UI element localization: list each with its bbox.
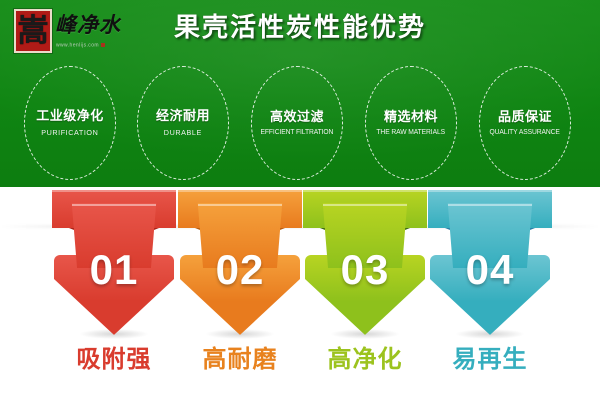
logo-url-dot-icon (101, 43, 105, 47)
arrow-caption: 高耐磨 (168, 348, 312, 372)
arrow-number: 01 (52, 249, 176, 291)
shaft-highlight (448, 204, 532, 206)
feature-ellipse-row: 工业级净化 PURIFICATION 经济耐用 DURABLE 高效过滤 EFF… (0, 66, 600, 182)
banner-highlight (303, 190, 427, 192)
arrow-card-02[interactable]: 02 高耐磨 (178, 187, 302, 402)
feature-ellipse-filtration: 高效过滤 EFFICIENT FILTRATION (251, 66, 343, 180)
arrow-caption: 易再生 (418, 348, 562, 372)
feature-label-cn: 精选材料 (384, 110, 438, 124)
banner-highlight (178, 190, 302, 192)
logo-url-text: www.henlijs.com (56, 42, 99, 48)
feature-label-en: DURABLE (164, 129, 202, 137)
infographic-canvas: 嵩 峰净水 www.henlijs.com 果壳活性炭性能优势 工业级净化 PU… (0, 0, 600, 402)
feature-label-en: THE RAW MATERIALS (377, 129, 446, 137)
arrow-number: 03 (303, 249, 427, 291)
feature-ellipse-durable: 经济耐用 DURABLE (137, 66, 229, 180)
logo-url: www.henlijs.com (56, 43, 105, 48)
shaft-highlight (72, 204, 156, 206)
feature-label-cn: 工业级净化 (36, 109, 104, 123)
header-band: 嵩 峰净水 www.henlijs.com 果壳活性炭性能优势 工业级净化 PU… (0, 0, 600, 187)
banner-highlight (428, 190, 552, 192)
feature-label-en: QUALITY ASSURANCE (490, 129, 560, 137)
feature-ellipse-raw-materials: 精选材料 THE RAW MATERIALS (365, 66, 457, 180)
feature-label-cn: 高效过滤 (270, 110, 324, 124)
page-title: 果壳活性炭性能优势 (0, 14, 600, 40)
arrow-caption: 高净化 (293, 348, 437, 372)
arrow-number: 02 (178, 249, 302, 291)
arrow-number: 04 (428, 249, 552, 291)
feature-ellipse-quality-assurance: 品质保证 QUALITY ASSURANCE (479, 66, 571, 180)
shaft-highlight (323, 204, 407, 206)
arrow-section: 01 吸附强 02 高耐磨 03 高净化 (0, 187, 600, 402)
shaft-highlight (198, 204, 282, 206)
feature-label-cn: 经济耐用 (156, 109, 210, 123)
arrow-card-01[interactable]: 01 吸附强 (52, 187, 176, 402)
feature-ellipse-purification: 工业级净化 PURIFICATION (24, 66, 116, 180)
feature-label-cn: 品质保证 (498, 110, 552, 124)
banner-highlight (52, 190, 176, 192)
feature-label-en: EFFICIENT FILTRATION (261, 129, 334, 137)
arrow-caption: 吸附强 (42, 348, 186, 372)
arrow-card-04[interactable]: 04 易再生 (428, 187, 552, 402)
feature-label-en: PURIFICATION (41, 129, 98, 137)
arrow-card-03[interactable]: 03 高净化 (303, 187, 427, 402)
